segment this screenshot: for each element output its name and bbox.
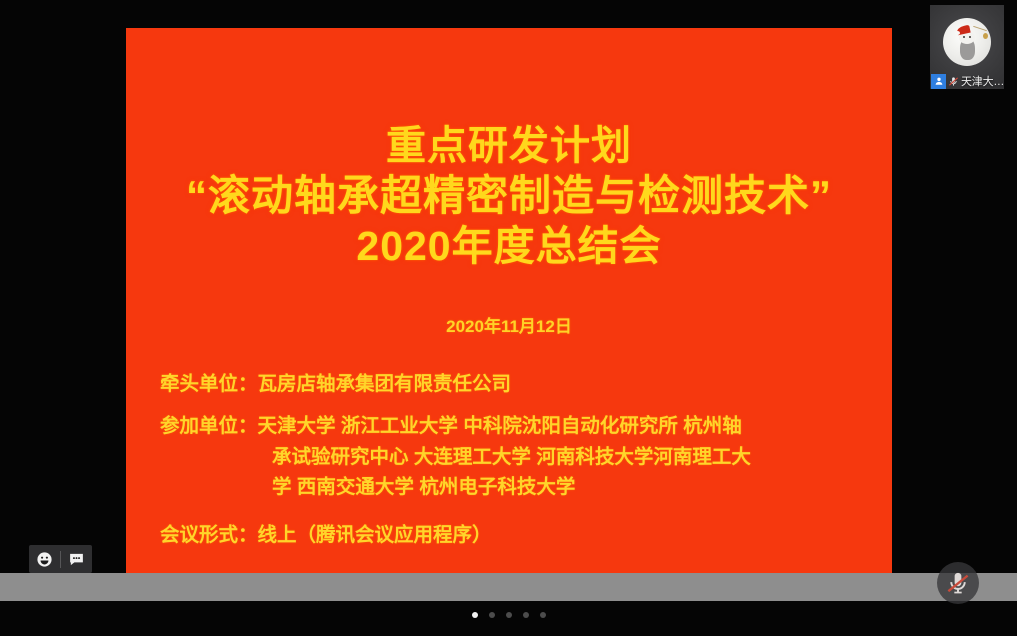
slide-title-line-1: 重点研发计划 — [126, 124, 892, 170]
chat-button[interactable] — [64, 548, 89, 570]
participants-label: 参加单位： — [160, 415, 258, 437]
mic-muted-icon — [945, 570, 971, 596]
page-dot-2[interactable] — [489, 612, 495, 618]
smiley-face-icon — [36, 551, 53, 568]
page-dot-4[interactable] — [523, 612, 529, 618]
video-tile-footer: 天津大… — [930, 73, 1004, 89]
participant-video-tile[interactable]: 天津大… — [930, 5, 1004, 89]
page-dot-5[interactable] — [540, 612, 546, 618]
pet-santa-avatar-icon — [943, 18, 991, 66]
page-indicator[interactable] — [0, 612, 1017, 618]
reaction-button[interactable] — [32, 548, 57, 570]
mute-toggle-button[interactable] — [937, 562, 979, 604]
person-icon — [931, 74, 946, 89]
chat-bubble-icon — [68, 551, 85, 568]
page-dot-1[interactable] — [472, 612, 478, 618]
participants-line-1: 天津大学 浙江工业大学 中科院沈阳自动化研究所 杭州轴 — [258, 415, 742, 437]
toolbar-divider — [60, 551, 61, 568]
slide-meeting-format: 会议形式：线上（腾讯会议应用程序） — [160, 520, 880, 550]
mic-muted-icon — [947, 74, 960, 89]
slide-lead-organization: 牵头单位：瓦房店轴承集团有限责任公司 — [160, 369, 880, 399]
participants-line-3: 学 西南交通大学 杭州电子科技大学 — [160, 472, 880, 502]
slide-reaction-toolbar — [29, 545, 92, 573]
slide-participating-organizations: 参加单位：天津大学 浙江工业大学 中科院沈阳自动化研究所 杭州轴 承试验研究中心… — [160, 411, 880, 502]
slide-title-line-3: 2020年度总结会 — [126, 223, 892, 270]
meeting-screen: 重点研发计划 “滚动轴承超精密制造与检测技术” 2020年度总结会 2020年1… — [0, 0, 1017, 636]
slide-date: 2020年11月12日 — [126, 312, 892, 337]
participant-name-label: 天津大… — [961, 73, 1004, 89]
bottom-control-strip[interactable] — [0, 573, 1017, 601]
participants-line-2: 承试验研究中心 大连理工大学 河南科技大学河南理工大 — [160, 442, 880, 472]
slide-title-line-2: “滚动轴承超精密制造与检测技术” — [126, 172, 892, 220]
page-dot-3[interactable] — [506, 612, 512, 618]
shared-slide[interactable]: 重点研发计划 “滚动轴承超精密制造与检测技术” 2020年度总结会 2020年1… — [126, 28, 892, 573]
